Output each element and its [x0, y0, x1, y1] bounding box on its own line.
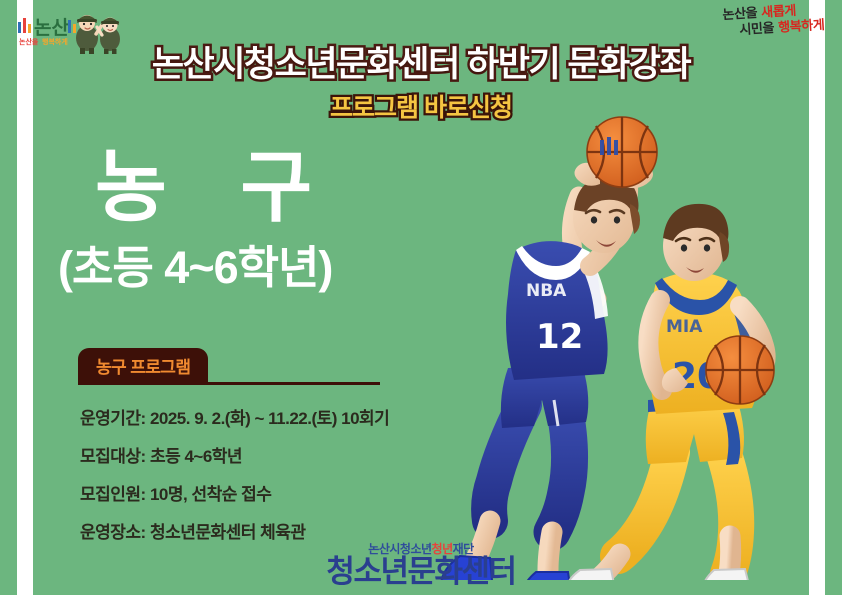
- slogan-line-1-red: 새롭게: [761, 4, 797, 21]
- slogan-line-2-red: 행복하게: [778, 17, 825, 35]
- logo-wordmark-icon: 논산: [18, 17, 76, 39]
- nonsan-city-logo: 논산 논산을 행복하게: [16, 8, 126, 56]
- page-subtitle: 프로그램 바로신청: [0, 88, 842, 124]
- detail-capacity: 모집인원: 10명, 선착순 접수: [80, 480, 389, 505]
- player-blue-12: 12 NBA: [442, 163, 653, 580]
- page-title: 논산시청소년문화센터 하반기 문화강좌: [0, 36, 842, 87]
- slogan-line-2-dark: 시민을: [739, 20, 779, 37]
- blue-jersey-number: 12: [536, 317, 583, 357]
- basketball-upper: [587, 117, 657, 187]
- two-basketball-players: 12 NBA: [404, 100, 824, 580]
- svg-text:MIA: MIA: [666, 317, 703, 337]
- foundation-logo-main: 청소년문화센터: [0, 556, 842, 587]
- slogan-line-1-dark: 논산을: [722, 6, 762, 23]
- soldier-mascot-icon: [76, 15, 102, 54]
- course-name: 농 구: [95, 148, 338, 226]
- basketball-lower: [706, 336, 774, 404]
- program-badge-rule: [78, 382, 380, 385]
- detail-audience: 모집대상: 초등 4~6학년: [80, 442, 389, 467]
- detail-period: 운영기간: 2025. 9. 2.(화) ~ 11.22.(토) 10회기: [80, 404, 389, 429]
- svg-text:행복하게: 행복하게: [42, 37, 68, 46]
- program-badge-tab: 농구 프로그램: [78, 348, 208, 382]
- svg-text:논산을: 논산을: [19, 37, 39, 46]
- poster-canvas: 논산 논산을 행복하게: [0, 0, 842, 595]
- course-grade: (초등 4~6학년): [58, 244, 332, 291]
- city-slogan: 논산을 새롭게 시민을 행복하게: [722, 3, 825, 39]
- soldier-mascot-icon-2: [97, 18, 120, 55]
- program-details: 운영기간: 2025. 9. 2.(화) ~ 11.22.(토) 10회기 모집…: [80, 404, 389, 556]
- svg-text:논산: 논산: [34, 17, 69, 39]
- program-badge: 농구 프로그램: [78, 348, 380, 386]
- program-badge-label: 농구 프로그램: [96, 353, 190, 378]
- detail-venue: 운영장소: 청소년문화센터 체육관: [80, 518, 389, 543]
- svg-text:NBA: NBA: [526, 281, 567, 301]
- foundation-logo: 논산시청소년청년재단 청소년문화센터: [0, 543, 842, 587]
